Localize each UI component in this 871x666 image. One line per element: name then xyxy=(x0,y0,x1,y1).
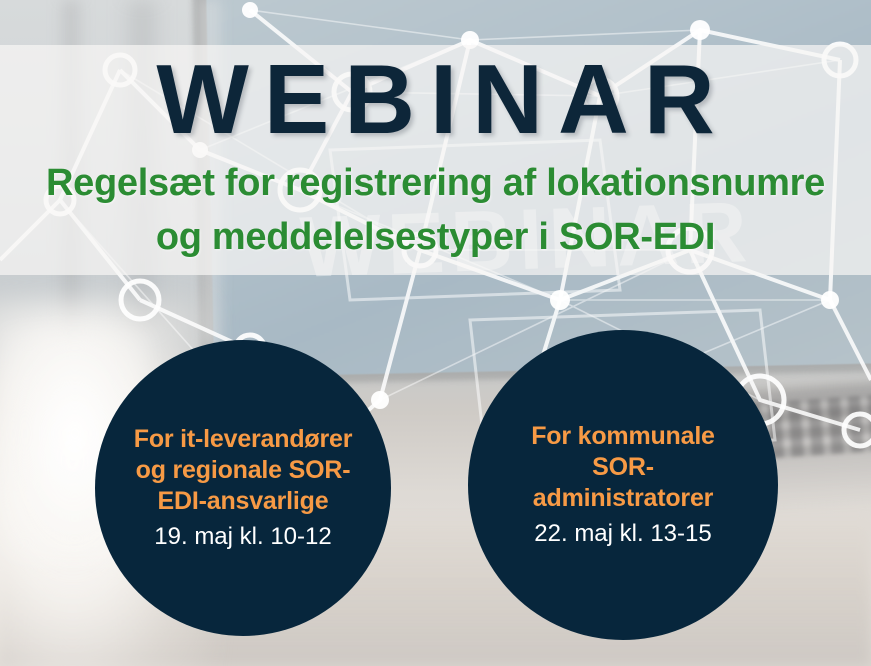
subtitle-line-1: Regelsæt for registrering af lokationsnu… xyxy=(0,157,871,211)
session-heading: For it-leverandører og regionale SOR- ED… xyxy=(134,424,352,517)
page-title: WEBINAR xyxy=(0,50,871,148)
headline-block: WEBINAR Regelsæt for registrering af lok… xyxy=(0,45,871,275)
session-card-kommunale-sor-administratorer[interactable]: For kommunale SOR- administratorer 22. m… xyxy=(468,330,778,640)
webinar-poster: WEBINAR xyxy=(0,0,871,666)
session-heading: For kommunale SOR- administratorer xyxy=(498,421,748,514)
session-heading-line-1: For kommunale SOR- xyxy=(498,421,748,483)
session-heading-line-2: og regionale SOR- xyxy=(134,455,352,486)
session-date: 19. maj kl. 10-12 xyxy=(154,523,331,552)
subtitle-line-2: og meddelelsestyper i SOR-EDI xyxy=(0,211,871,265)
subtitle: Regelsæt for registrering af lokationsnu… xyxy=(0,157,871,265)
session-date: 22. maj kl. 13-15 xyxy=(534,520,711,549)
session-heading-line-2: administratorer xyxy=(498,483,748,514)
session-card-it-leverandoerer[interactable]: For it-leverandører og regionale SOR- ED… xyxy=(95,340,391,636)
session-heading-line-1: For it-leverandører xyxy=(134,424,352,455)
session-heading-line-3: EDI-ansvarlige xyxy=(134,486,352,517)
